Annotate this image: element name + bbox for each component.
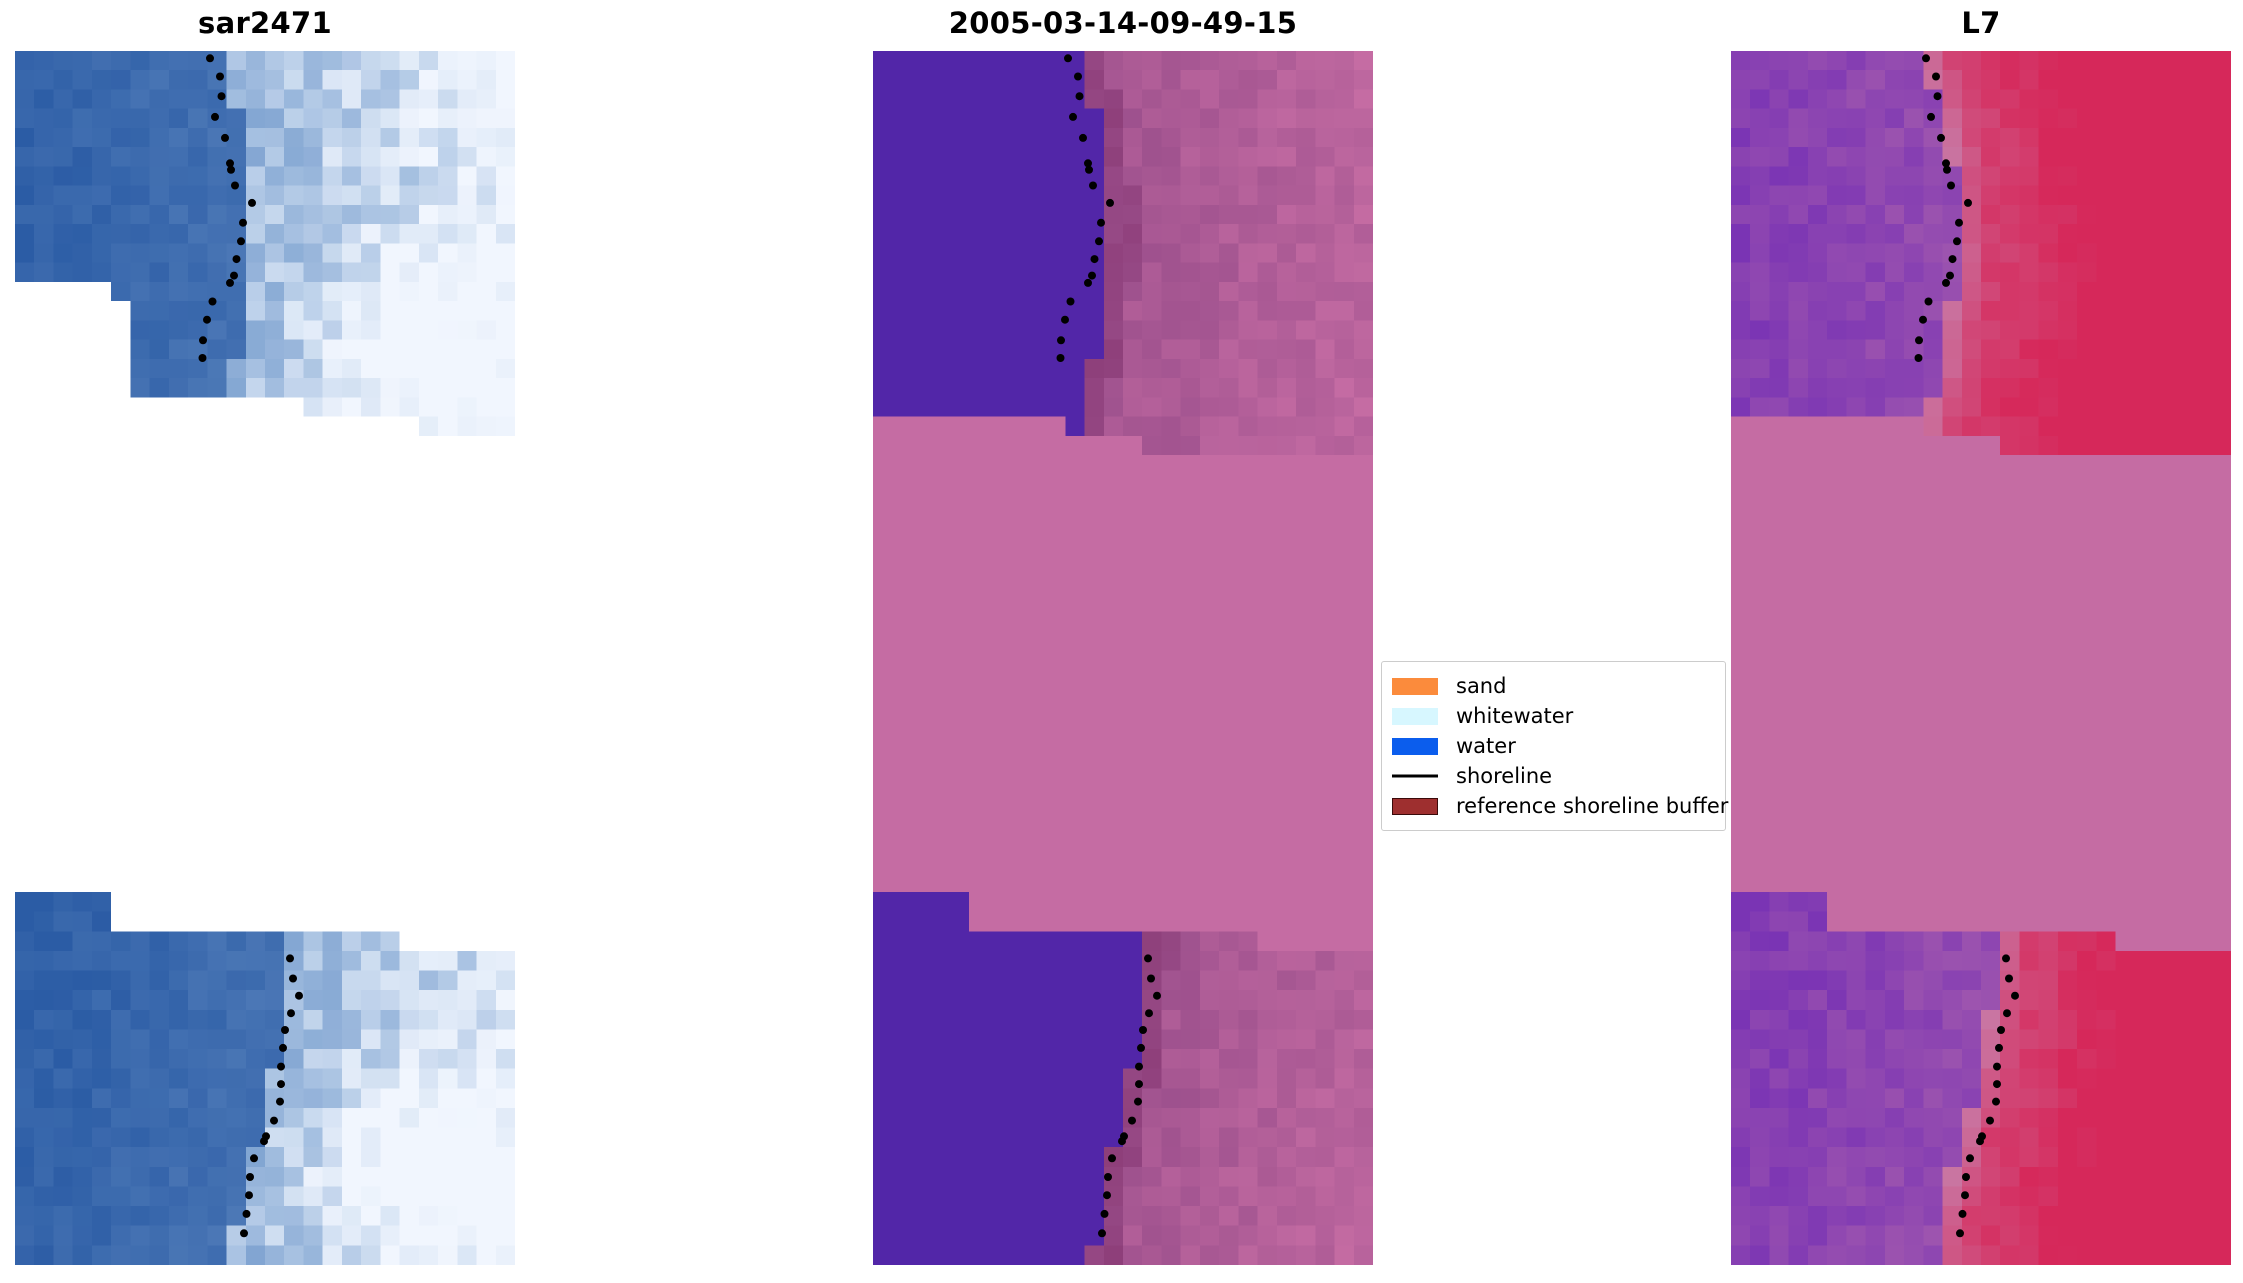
legend-label-reference-buffer: reference shoreline buffer bbox=[1456, 796, 1728, 817]
panel-l7: L7 bbox=[1731, 0, 2231, 1283]
raster-canvas-classified-top bbox=[873, 51, 1373, 455]
whitewater-swatch-icon bbox=[1392, 708, 1438, 725]
raster-canvas-l7-top bbox=[1731, 51, 2231, 455]
water-swatch-icon bbox=[1392, 738, 1438, 755]
raster-canvas-l7-bottom bbox=[1731, 892, 2231, 1265]
raster-l7-middle bbox=[1731, 378, 2231, 956]
sand-swatch-icon bbox=[1392, 678, 1438, 695]
legend-item-water[interactable]: water bbox=[1392, 731, 1714, 761]
reference-buffer-swatch-icon bbox=[1392, 798, 1438, 815]
raster-classified-middle bbox=[873, 378, 1373, 956]
raster-canvas-sar-top bbox=[15, 51, 515, 455]
panel-title-l7: L7 bbox=[1731, 6, 2231, 40]
legend-item-reference-buffer[interactable]: reference shoreline buffer bbox=[1392, 791, 1714, 821]
legend-item-whitewater[interactable]: whitewater bbox=[1392, 701, 1714, 731]
panel-title-sar2471: sar2471 bbox=[15, 6, 515, 40]
legend-label-sand: sand bbox=[1456, 676, 1506, 697]
raster-l7-bottom[interactable] bbox=[1731, 892, 2231, 1265]
raster-sar-bottom[interactable] bbox=[15, 892, 515, 1265]
panel-title-date: 2005-03-14-09-49-15 bbox=[873, 6, 1373, 40]
legend-label-water: water bbox=[1456, 736, 1516, 757]
raster-canvas-sar-bottom bbox=[15, 892, 515, 1265]
raster-sar-top[interactable] bbox=[15, 51, 515, 455]
figure-canvas: sar2471 2005-03-14-09-49-15 L7 bbox=[0, 0, 2243, 1283]
panel-classified: 2005-03-14-09-49-15 bbox=[873, 0, 1373, 1283]
legend-label-shoreline: shoreline bbox=[1456, 766, 1552, 787]
raster-l7-top[interactable] bbox=[1731, 51, 2231, 455]
legend-item-shoreline[interactable]: shoreline bbox=[1392, 761, 1714, 791]
legend-label-whitewater: whitewater bbox=[1456, 706, 1573, 727]
legend-item-sand[interactable]: sand bbox=[1392, 671, 1714, 701]
legend-box: sand whitewater water shoreline referenc… bbox=[1381, 661, 1726, 831]
raster-canvas-classified-bottom bbox=[873, 892, 1373, 1265]
panel-sar2471: sar2471 bbox=[15, 0, 515, 1283]
raster-classified-bottom[interactable] bbox=[873, 892, 1373, 1265]
shoreline-line-icon bbox=[1392, 768, 1438, 785]
raster-classified-top[interactable] bbox=[873, 51, 1373, 455]
